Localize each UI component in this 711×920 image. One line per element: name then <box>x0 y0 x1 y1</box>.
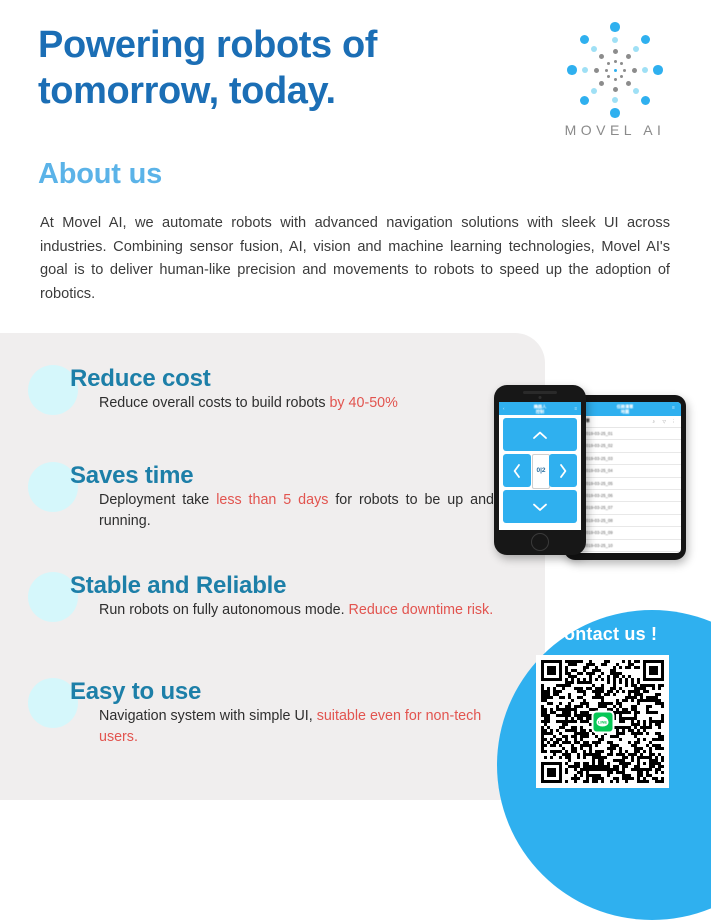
feature-title: Stable and Reliable <box>70 572 470 599</box>
phone-home-button[interactable] <box>531 533 549 551</box>
logo-dot <box>623 69 626 72</box>
chevron-down-icon <box>532 502 548 512</box>
phone-app-bar: ‹ 機器人 控制 ≡ <box>499 402 581 415</box>
line-bubble-icon: LINE <box>597 717 609 727</box>
more-icon[interactable]: ⋮ <box>672 419 677 425</box>
logo-dot <box>620 62 623 65</box>
dpad-center-readout[interactable]: 0|2 <box>532 454 550 489</box>
feature-item: Saves time Deployment take less than 5 d… <box>0 462 470 531</box>
feature-title: Reduce cost <box>70 365 470 392</box>
feature-item: Reduce cost Reduce overall costs to buil… <box>0 365 470 414</box>
logo-dot <box>614 78 617 81</box>
phone-camera <box>539 396 542 399</box>
feature-desc-plain: Reduce overall costs to build robots <box>99 395 329 411</box>
logo-dot <box>613 49 618 54</box>
logo-dot <box>633 46 640 53</box>
phone-subtitle-text: 控制 <box>536 409 544 414</box>
chevron-up-icon <box>532 430 548 440</box>
phone-title-text: 機器人 <box>534 404 547 409</box>
filter-icon[interactable]: ▽ <box>663 419 666 425</box>
feature-item: Stable and Reliable Run robots on fully … <box>0 572 470 621</box>
logo-dot <box>620 75 623 78</box>
logo-dot <box>599 54 604 59</box>
feature-desc-plain: Run robots on fully autonomous mode. <box>99 602 349 618</box>
dpad-up-button[interactable] <box>503 418 577 451</box>
logo-dot <box>567 65 577 75</box>
feature-description: Deployment take less than 5 days for rob… <box>99 490 494 531</box>
hero-section: Powering robots of tomorrow, today. MOVE… <box>0 0 711 333</box>
logo-dot <box>610 108 620 118</box>
menu-icon[interactable]: ≡ <box>574 406 577 411</box>
search-icon[interactable]: ⌕ <box>652 419 655 424</box>
logo-dot <box>653 65 663 75</box>
robot-dpad-control: 0|2 <box>499 415 581 530</box>
line-qr-code[interactable]: LINE <box>536 655 669 788</box>
logo-dot <box>612 37 619 44</box>
phone-screen: ‹ 機器人 控制 ≡ 0|2 <box>499 402 581 530</box>
logo-dot <box>591 46 598 53</box>
logo-dot <box>614 69 617 72</box>
about-paragraph: At Movel AI, we automate robots with adv… <box>40 212 670 307</box>
logo-dot <box>607 75 610 78</box>
logo-dot <box>610 22 620 32</box>
feature-title: Saves time <box>70 462 470 489</box>
feature-description: Navigation system with simple UI, suitab… <box>99 706 494 747</box>
tablet-subtitle-text: 地圖 <box>621 409 629 414</box>
feature-title: Easy to use <box>70 678 470 705</box>
logo-dot <box>605 69 608 72</box>
logo-dot <box>594 68 599 73</box>
feature-desc-highlight: by 40-50% <box>329 395 397 411</box>
movel-ai-starburst-logo <box>556 18 674 122</box>
device-mockups: 任務清單 地圖 ≡ 地圖清單 ⌕ ▽ ⋮ map_2019-03-25_01ma… <box>494 385 704 565</box>
logo-dot <box>580 96 590 106</box>
menu-icon[interactable]: ≡ <box>672 406 677 411</box>
dpad-left-button[interactable] <box>503 454 531 487</box>
chevron-right-icon <box>558 463 568 479</box>
feature-item: Easy to use Navigation system with simpl… <box>0 678 470 747</box>
feature-desc-plain: Navigation system with simple UI, <box>99 708 317 724</box>
logo-dot <box>642 67 649 74</box>
logo-dot <box>582 67 589 74</box>
phone-speaker <box>523 391 557 394</box>
logo-dot <box>599 81 604 86</box>
feature-description: Reduce overall costs to build robots by … <box>99 393 494 413</box>
phone-mockup: ‹ 機器人 控制 ≡ 0|2 <box>494 385 586 555</box>
dpad-right-button[interactable] <box>549 454 577 487</box>
dpad-down-button[interactable] <box>503 490 577 523</box>
speed-value: 0|2 <box>536 468 545 475</box>
line-app-badge: LINE <box>591 710 614 733</box>
logo-dot <box>641 35 651 45</box>
logo-dot <box>633 88 640 95</box>
tablet-list-item[interactable]: map_2019-03-25_11 <box>569 552 681 553</box>
logo-dot <box>632 68 637 73</box>
logo-wordmark: MOVEL AI <box>540 122 690 138</box>
feature-desc-plain: Deployment take <box>99 492 216 508</box>
logo-dot <box>607 62 610 65</box>
logo-dot <box>614 60 617 63</box>
logo-dot <box>580 35 590 45</box>
feature-desc-highlight: Reduce downtime risk. <box>349 602 494 618</box>
logo-dot <box>641 96 651 106</box>
logo-dot <box>612 97 619 104</box>
about-heading: About us <box>38 158 162 191</box>
feature-description: Run robots on fully autonomous mode. Red… <box>99 600 494 620</box>
page-title: Powering robots of tomorrow, today. <box>38 22 528 115</box>
logo-dot <box>626 54 631 59</box>
phone-app-bar-title: 機器人 控制 <box>499 404 581 415</box>
feature-desc-highlight: less than 5 days <box>216 492 328 508</box>
logo-dot <box>591 88 598 95</box>
brand-logo: MOVEL AI <box>540 18 690 148</box>
contact-heading: Contact us ! <box>497 624 711 645</box>
logo-dot <box>626 81 631 86</box>
chevron-left-icon <box>512 463 522 479</box>
logo-dot <box>613 87 618 92</box>
